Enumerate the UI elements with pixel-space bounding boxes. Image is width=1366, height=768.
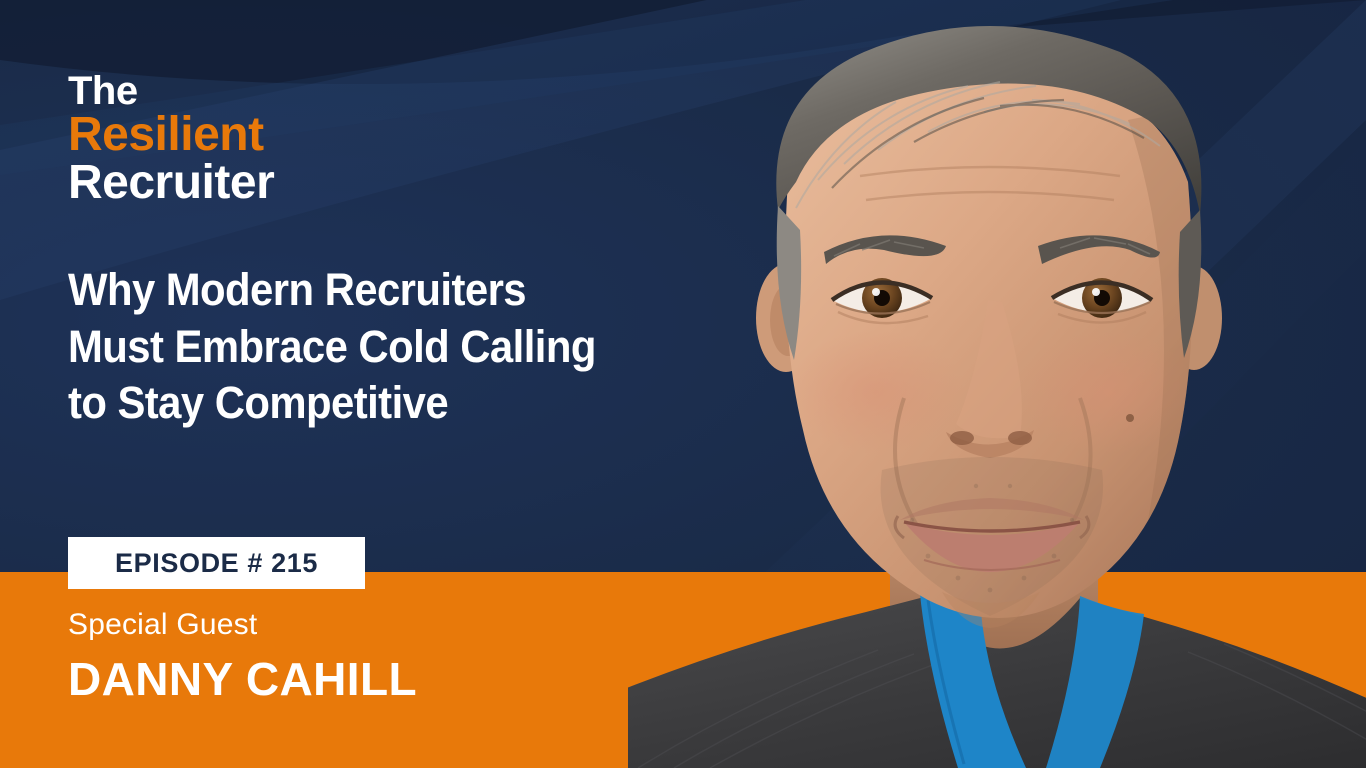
guest-headshot-photo [628, 0, 1366, 768]
episode-number-badge: EPISODE # 215 [68, 537, 365, 589]
episode-title-line-1: Why Modern Recruiters [68, 262, 589, 319]
logo-line-resilient: Resilient [68, 112, 274, 158]
special-guest-block: Special Guest DANNY CAHILL [68, 608, 417, 703]
logo-line-the: The [68, 72, 274, 110]
cover-text-content: The Resilient Recruiter Why Modern Recru… [0, 0, 640, 768]
podcast-cover-art: The Resilient Recruiter Why Modern Recru… [0, 0, 1366, 768]
episode-title: Why Modern Recruiters Must Embrace Cold … [68, 262, 628, 432]
special-guest-name: DANNY CAHILL [68, 655, 417, 703]
podcast-logo-wordmark: The Resilient Recruiter [68, 72, 274, 205]
episode-title-line-3: to Stay Competitive [68, 375, 589, 432]
logo-line-recruiter: Recruiter [68, 160, 274, 206]
episode-badge-label: EPISODE # 215 [115, 548, 318, 579]
episode-title-line-2: Must Embrace Cold Calling [68, 319, 589, 376]
special-guest-label: Special Guest [68, 608, 417, 643]
